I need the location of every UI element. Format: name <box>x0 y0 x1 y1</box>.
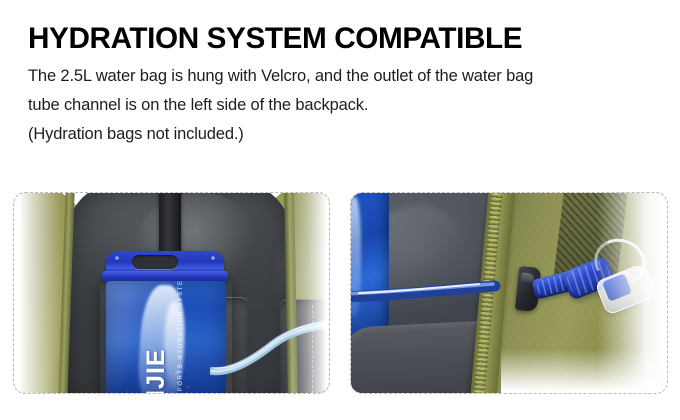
text-block: HYDRATION SYSTEM COMPATIBLE The 2.5L wat… <box>28 22 658 149</box>
water-bladder-edge <box>351 193 389 337</box>
tube-port-photo <box>351 193 667 393</box>
photo-fade-bottom <box>501 349 667 393</box>
description-line-2: tube channel is on the left side of the … <box>28 91 658 120</box>
photo-panel-group: NJIE SPORTS HYDRATION SYSTEM <box>0 188 680 398</box>
bladder-brand-sublabel: SPORTS HYDRATION SYSTEM <box>178 281 184 393</box>
hydration-tube <box>351 279 531 305</box>
bladder-handle-hole <box>132 255 178 269</box>
backpack-interior-photo: NJIE SPORTS HYDRATION SYSTEM <box>14 193 329 393</box>
water-bladder: NJIE SPORTS HYDRATION SYSTEM <box>106 281 226 393</box>
bladder-handle-rivet <box>211 256 215 260</box>
bladder-brand-label: NJIE <box>143 281 169 393</box>
product-feature-page: HYDRATION SYSTEM COMPATIBLE The 2.5L wat… <box>0 0 680 420</box>
page-title: HYDRATION SYSTEM COMPATIBLE <box>28 22 652 56</box>
description-line-3: (Hydration bags not included.) <box>28 120 658 149</box>
photo-fade-left <box>14 193 62 393</box>
photo-fade-right <box>287 193 329 393</box>
photo-panel-right <box>350 192 668 394</box>
description-line-1: The 2.5L water bag is hung with Velcro, … <box>28 62 658 91</box>
bladder-handle-rivet <box>115 256 119 260</box>
photo-panel-left: NJIE SPORTS HYDRATION SYSTEM <box>13 192 330 394</box>
